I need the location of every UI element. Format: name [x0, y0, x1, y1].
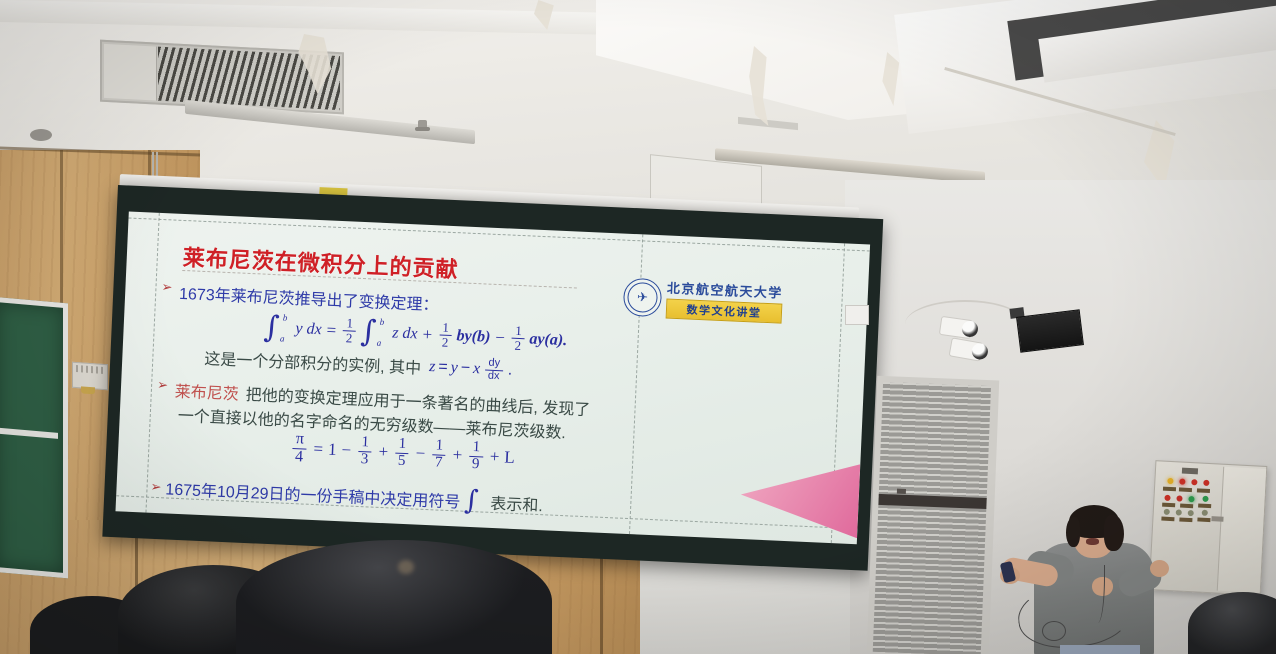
fraction-denominator: 9	[469, 457, 483, 473]
series-op-3: −	[415, 444, 425, 464]
series-fraction-1-5: 1 5	[394, 437, 409, 470]
seal-glyph-icon: ✈	[637, 289, 649, 305]
classroom-door[interactable]	[867, 376, 1000, 654]
slide-bullet-1: ➢ 1673年莱布尼茨推导出了变换定理：	[161, 279, 439, 315]
bullet-arrow-icon: ➢	[157, 377, 169, 393]
fraction-numerator: 1	[432, 438, 446, 455]
fire-sprinkler-icon	[418, 120, 427, 131]
presenter-jeans	[1060, 645, 1140, 654]
fraction-one-half: 1 2	[343, 317, 357, 346]
fraction-pi-over-4: π 4	[292, 431, 308, 466]
panel-door[interactable]	[1217, 467, 1266, 593]
integral-sign-icon: ∫	[360, 314, 377, 350]
note-equals: =	[438, 358, 448, 376]
slide-bullet-3: ➢ 1675年10月29日的一份手稿中决定用符号 ∫ 表示和.	[150, 471, 544, 519]
note-x: x	[473, 360, 481, 378]
integral-upper-limit: b	[380, 316, 385, 326]
presenter	[1000, 505, 1190, 654]
presenter-right-hand	[1150, 560, 1169, 577]
derivative-fraction: dy dx	[485, 358, 504, 383]
indicator-light-off	[1202, 510, 1208, 516]
indicator-light-green	[1188, 496, 1194, 502]
series-fraction-1-7: 1 7	[432, 438, 447, 471]
note-z: z	[429, 358, 436, 376]
integral-lower-limit: a	[280, 333, 285, 343]
integral-symbol-icon: ∫	[464, 485, 479, 517]
presenter-mouth	[1086, 538, 1099, 545]
lecture-series-banner: 数学文化讲堂	[666, 299, 783, 324]
fraction-denominator: dx	[485, 370, 503, 382]
panel-tag	[1197, 488, 1210, 493]
panel-tag	[1163, 487, 1176, 492]
wall-mounted-junction-box	[72, 362, 108, 391]
cable-loop	[1042, 621, 1066, 641]
term-ay-a: ay(a).	[529, 330, 568, 350]
note-y: y	[450, 359, 458, 377]
fraction-numerator: 1	[343, 317, 356, 332]
indicator-light-red	[1203, 480, 1209, 486]
equals-sign: =	[313, 439, 323, 459]
fraction-denominator: 2	[511, 339, 524, 353]
bullet-2-name: 莱布尼茨	[174, 378, 239, 405]
panel-label	[1182, 468, 1198, 475]
integrand-2: z dx	[392, 324, 418, 343]
fraction-numerator: 1	[439, 321, 452, 336]
series-op-4: +	[452, 445, 462, 465]
university-seal-icon: ✈	[623, 277, 663, 317]
note-minus: −	[460, 359, 470, 377]
screen-hanger	[156, 152, 158, 178]
integral-limits: b a	[379, 318, 390, 346]
fluorescent-tube-light	[738, 117, 798, 130]
indicator-light-green	[1202, 496, 1208, 502]
university-logo: ✈ 北京航空航天大学 数学文化讲堂	[623, 276, 784, 324]
presenter-hair-side	[1066, 517, 1080, 547]
panel-tag	[1197, 517, 1210, 522]
fraction-denominator: 2	[439, 335, 452, 349]
fraction-one-half: 1 2	[439, 321, 453, 350]
bullet-3-text: 1675年10月29日的一份手稿中决定用符号	[165, 475, 461, 512]
lecture-hall-photo: 莱布尼茨在微积分上的贡献 ✈ 北京航空航天大学 数学文化讲堂 ➢ 1673年莱布…	[0, 0, 1276, 654]
indicator-light-red	[1191, 479, 1197, 485]
integral-upper-limit: b	[283, 312, 288, 322]
fraction-numerator: 1	[395, 437, 409, 454]
bullet-arrow-icon: ➢	[161, 279, 173, 295]
bullet-3-suffix: 表示和.	[490, 489, 543, 515]
vent-access-panel	[104, 44, 157, 101]
indicator-light-red	[1164, 495, 1170, 501]
screen-hanger	[152, 152, 154, 178]
plus-sign: +	[422, 324, 432, 344]
integrand-1: y dx	[295, 320, 322, 339]
door-panel	[873, 382, 991, 654]
fraction-numerator: π	[292, 431, 307, 449]
ceiling-fixture-hole	[30, 129, 52, 141]
series-fraction-1-9: 1 9	[469, 440, 484, 473]
hair-parting	[398, 560, 414, 574]
note-period: .	[507, 362, 512, 380]
bullet-arrow-icon: ➢	[150, 478, 162, 494]
integral-limits: b a	[282, 314, 293, 342]
presentation-slide: 莱布尼茨在微积分上的贡献 ✈ 北京航空航天大学 数学文化讲堂 ➢ 1673年莱布…	[115, 212, 870, 545]
series-op-1: −	[341, 441, 351, 461]
series-op-5: +	[489, 447, 499, 467]
minus-sign: −	[495, 327, 505, 347]
bullet-1-text: 1673年莱布尼茨推导出了变换定理：	[179, 280, 439, 316]
series-op-2: +	[378, 442, 388, 462]
projection-screen[interactable]: 莱布尼茨在微积分上的贡献 ✈ 北京航空航天大学 数学文化讲堂 ➢ 1673年莱布…	[102, 185, 883, 571]
fraction-denominator: 4	[292, 449, 307, 466]
university-name: 北京航空航天大学	[667, 278, 784, 302]
fraction-denominator: 5	[394, 453, 408, 469]
fraction-denominator: 3	[357, 452, 371, 468]
series-tail: L	[504, 448, 515, 468]
integral-sign-icon: ∫	[263, 310, 280, 346]
camera-mount-bracket	[845, 305, 869, 325]
integral-lower-limit: a	[377, 337, 382, 347]
presenter-hair-side	[1104, 515, 1124, 551]
series-term-1: 1	[328, 440, 337, 460]
fraction-numerator: 1	[358, 435, 372, 452]
term-by-b: by(b)	[456, 327, 491, 346]
logo-text-block: 北京航空航天大学 数学文化讲堂	[666, 278, 784, 324]
indicator-light-red	[1176, 495, 1182, 501]
slide-title: 莱布尼茨在微积分上的贡献	[182, 240, 459, 284]
panel-tag	[1179, 487, 1192, 492]
fraction-denominator: 7	[432, 455, 446, 471]
fraction-numerator: 1	[469, 440, 483, 457]
fraction-denominator: 2	[343, 331, 356, 345]
equals-sign: =	[326, 320, 336, 340]
series-fraction-1-3: 1 3	[357, 435, 372, 468]
door-handle[interactable]	[897, 489, 906, 494]
projection-screen-surface: 莱布尼茨在微积分上的贡献 ✈ 北京航空航天大学 数学文化讲堂 ➢ 1673年莱布…	[115, 212, 870, 545]
fraction-one-half: 1 2	[511, 324, 525, 353]
indicator-light-red	[1179, 478, 1185, 484]
slide-guide	[145, 213, 159, 513]
indicator-light-yellow	[1167, 478, 1173, 484]
panel-tag	[1198, 503, 1211, 508]
fraction-numerator: 1	[512, 324, 525, 339]
